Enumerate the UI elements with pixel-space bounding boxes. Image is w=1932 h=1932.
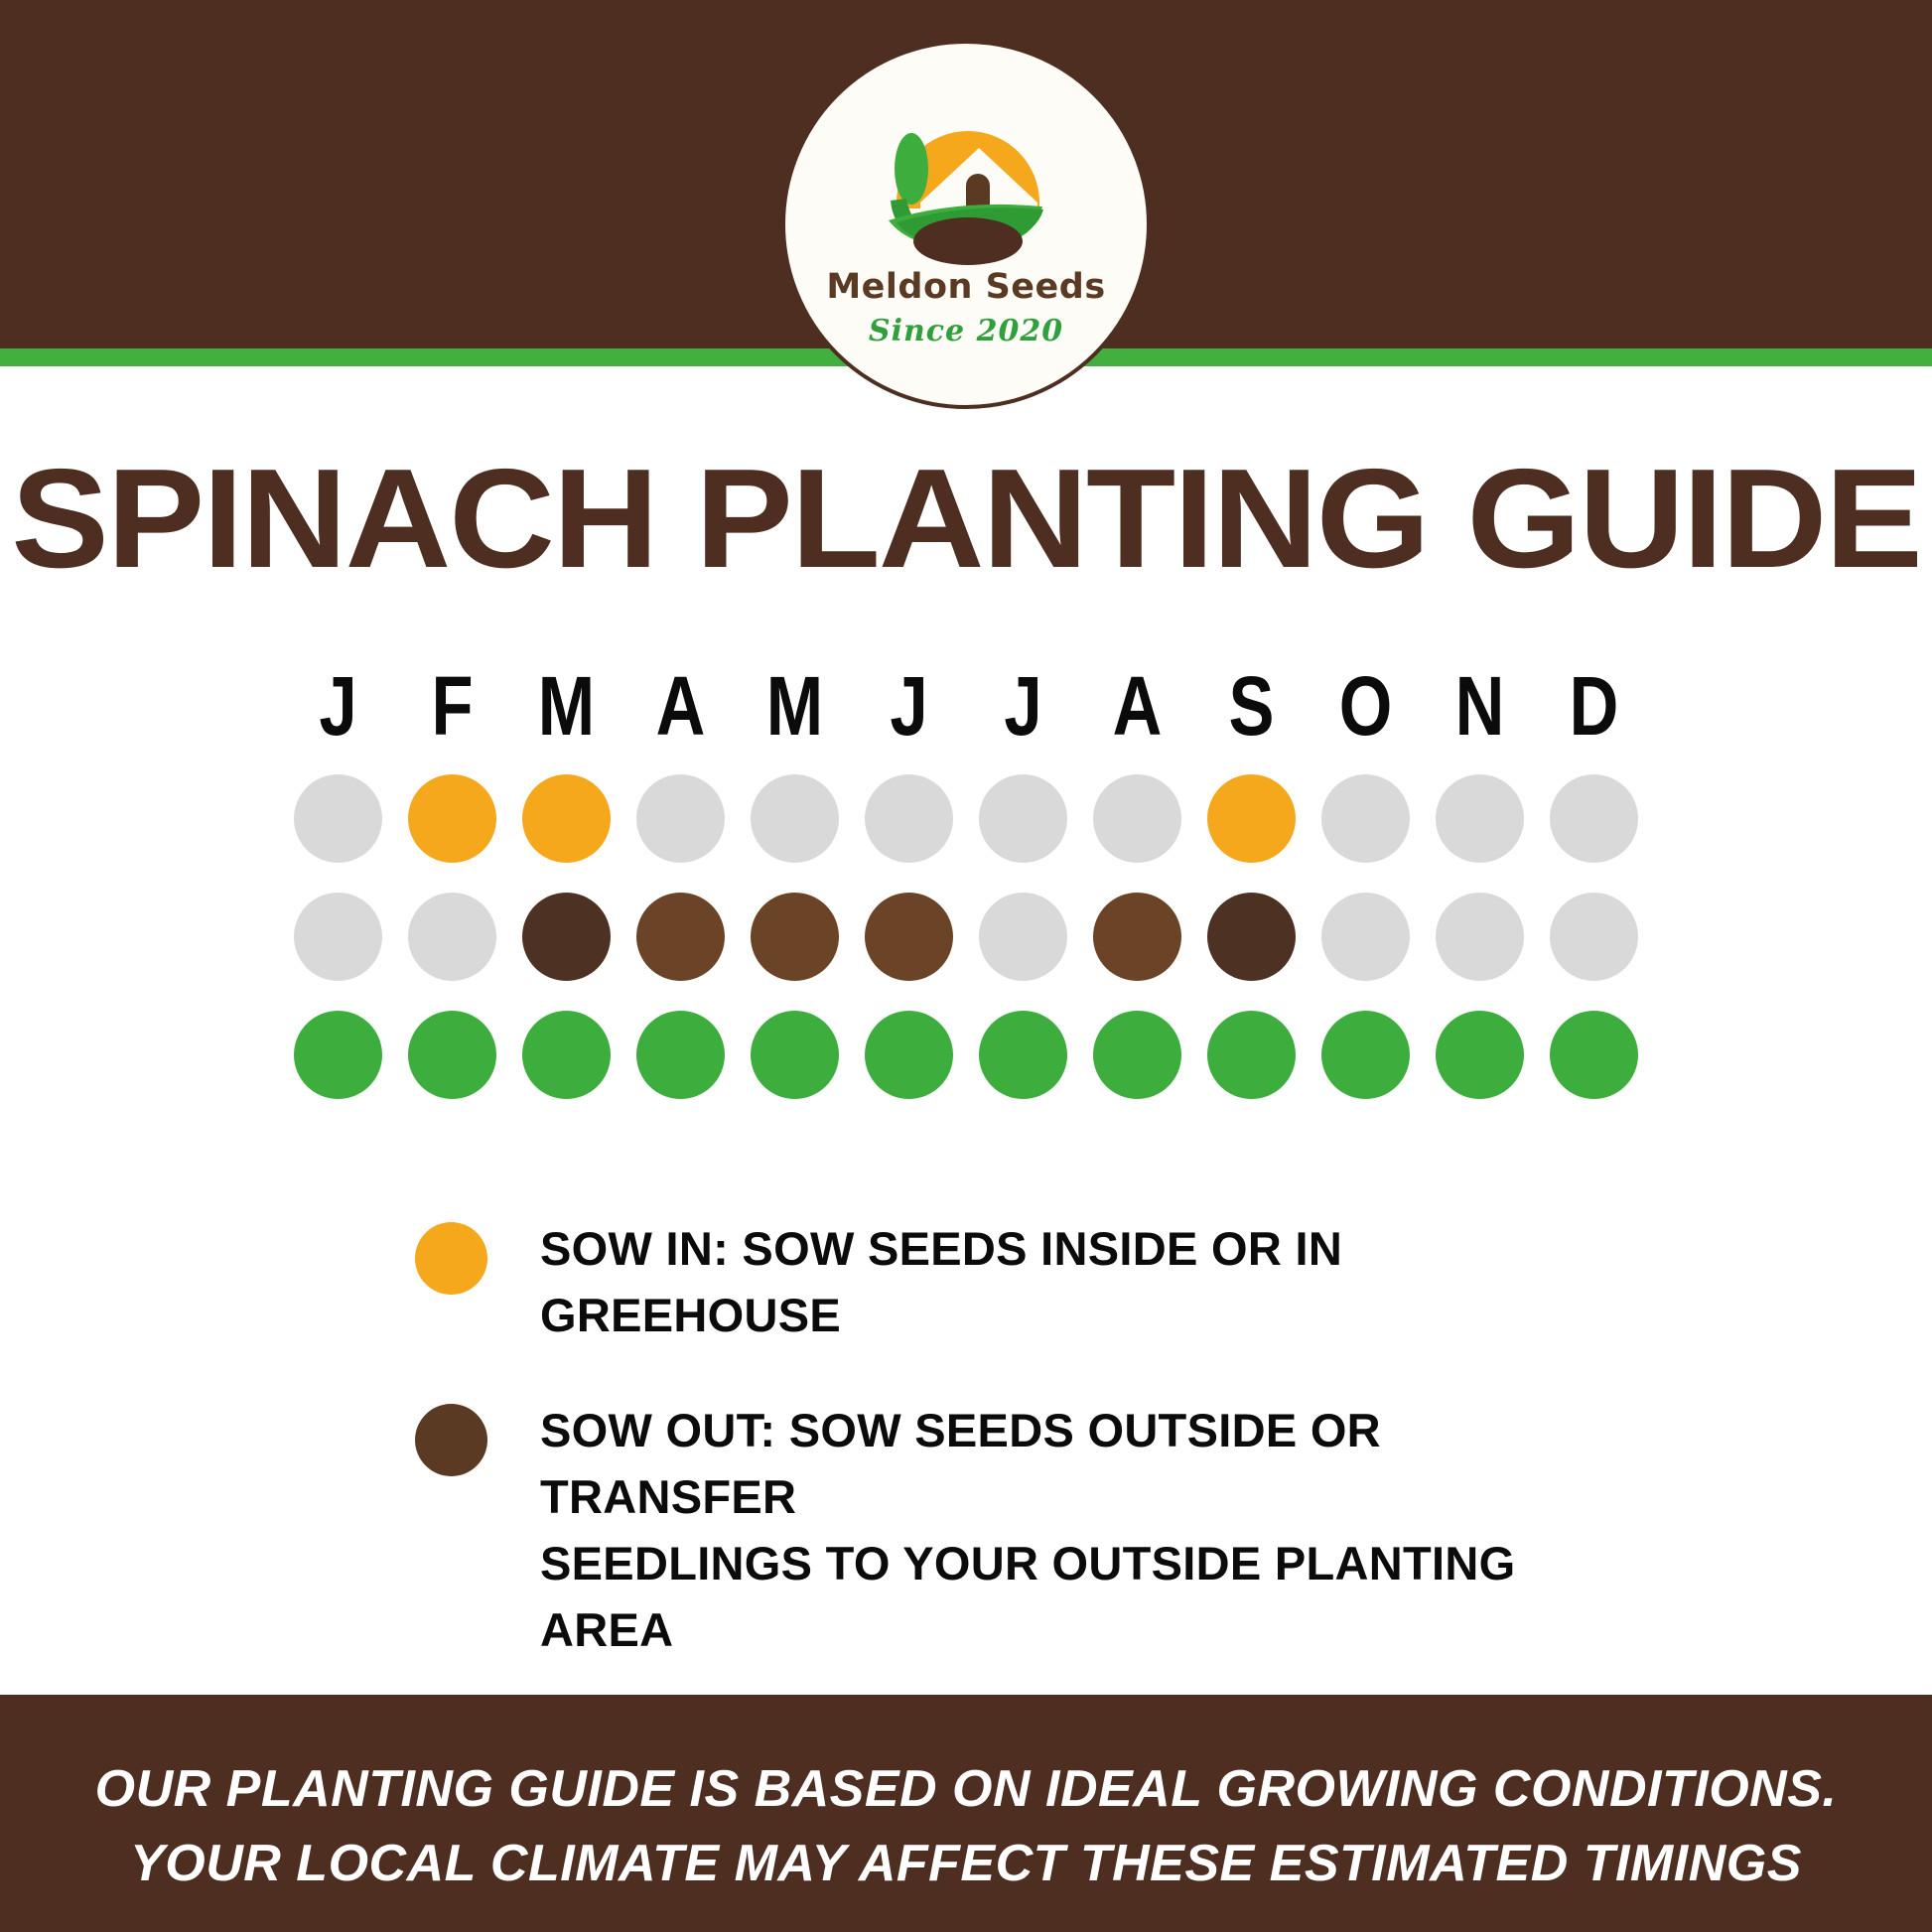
sow-in-cell: [281, 774, 395, 863]
sow-out-cell: [395, 893, 509, 981]
month-label: J: [862, 664, 955, 748]
sow-out-cell: [1194, 893, 1309, 981]
harvest-cell: [1423, 1011, 1537, 1099]
harvest-cell: [852, 1011, 966, 1099]
harvest-dot-s-8: [1207, 1011, 1296, 1099]
farmhouse-sun-field-icon: [867, 91, 1065, 265]
harvest-dot-o-9: [1321, 1011, 1410, 1099]
sow-out-cell: [1537, 893, 1651, 981]
harvest-dot-j-5: [865, 1011, 953, 1099]
month-label: M: [748, 664, 841, 748]
sow-out-dot-j-6: [979, 893, 1067, 981]
harvest-cell: [509, 1011, 623, 1099]
harvest-cell: [395, 1011, 509, 1099]
harvest-row: [281, 1011, 1651, 1099]
page-title: SPINACH PLANTING GUIDE: [0, 449, 1932, 590]
legend-dot-sow-out: [415, 1404, 487, 1476]
legend-label-line: SOW OUT: SOW SEEDS OUTSIDE OR TRANSFER: [540, 1398, 1606, 1530]
sow-out-cell: [738, 893, 852, 981]
harvest-cell: [623, 1011, 738, 1099]
sow-in-cell: [395, 774, 509, 863]
sow-in-dot-s-8: [1207, 774, 1296, 863]
legend-dot-sow-in: [415, 1222, 487, 1295]
footer-disclaimer: OUR PLANTING GUIDE IS BASED ON IDEAL GRO…: [0, 1752, 1932, 1902]
harvest-dot-a-7: [1093, 1011, 1181, 1099]
planting-calendar-grid: JFMAMJJASOND: [281, 667, 1651, 1099]
brand-logo-badge: Meldon Seeds Since 2020: [781, 40, 1151, 409]
month-label: O: [1318, 664, 1412, 748]
month-label: J: [291, 664, 384, 748]
harvest-dot-f-1: [408, 1011, 496, 1099]
sow-out-dot-m-2: [522, 893, 611, 981]
harvest-dot-m-2: [522, 1011, 611, 1099]
legend-item-sow-in: SOW IN: SOW SEEDS INSIDE OR IN GREEHOUSE: [415, 1216, 1606, 1348]
sow-in-cell: [1194, 774, 1309, 863]
harvest-dot-n-10: [1436, 1011, 1524, 1099]
month-label: A: [1090, 664, 1183, 748]
sow-out-row: [281, 893, 1651, 981]
sow-in-cell: [1423, 774, 1537, 863]
sow-in-cell: [852, 774, 966, 863]
sow-out-cell: [281, 893, 395, 981]
harvest-cell: [1080, 1011, 1194, 1099]
sow-out-dot-j-0: [294, 893, 382, 981]
sow-in-row: [281, 774, 1651, 863]
footer-line: OUR PLANTING GUIDE IS BASED ON IDEAL GRO…: [0, 1752, 1932, 1827]
sow-out-dot-j-5: [865, 893, 953, 981]
sow-in-cell: [966, 774, 1080, 863]
month-label: A: [633, 664, 727, 748]
month-label: M: [519, 664, 613, 748]
footer-line: YOUR LOCAL CLIMATE MAY AFFECT THESE ESTI…: [0, 1827, 1932, 1901]
month-label: F: [405, 664, 498, 748]
harvest-cell: [281, 1011, 395, 1099]
sow-in-dot-n-10: [1436, 774, 1524, 863]
sow-out-cell: [852, 893, 966, 981]
sow-out-dot-n-10: [1436, 893, 1524, 981]
sow-in-dot-j-0: [294, 774, 382, 863]
sow-in-cell: [1537, 774, 1651, 863]
sow-in-dot-m-4: [751, 774, 839, 863]
footer-band: OUR PLANTING GUIDE IS BASED ON IDEAL GRO…: [0, 1695, 1932, 1932]
harvest-dot-j-6: [979, 1011, 1067, 1099]
sow-out-dot-m-4: [751, 893, 839, 981]
planting-guide-poster: Meldon Seeds Since 2020 SPINACH PLANTING…: [0, 0, 1932, 1932]
legend-item-sow-out: SOW OUT: SOW SEEDS OUTSIDE OR TRANSFERSE…: [415, 1398, 1606, 1663]
sow-in-dot-d-11: [1550, 774, 1638, 863]
harvest-dot-a-3: [636, 1011, 725, 1099]
sow-out-cell: [623, 893, 738, 981]
harvest-cell: [1194, 1011, 1309, 1099]
harvest-cell: [1537, 1011, 1651, 1099]
sow-in-dot-a-3: [636, 774, 725, 863]
sow-in-cell: [1309, 774, 1423, 863]
legend-label-line: SEEDLINGS TO YOUR OUTSIDE PLANTING AREA: [540, 1531, 1606, 1663]
sow-in-dot-a-7: [1093, 774, 1181, 863]
harvest-cell: [738, 1011, 852, 1099]
month-label: J: [976, 664, 1069, 748]
sow-in-cell: [623, 774, 738, 863]
sow-out-dot-a-7: [1093, 893, 1181, 981]
harvest-dot-m-4: [751, 1011, 839, 1099]
sow-in-dot-o-9: [1321, 774, 1410, 863]
sow-in-dot-j-5: [865, 774, 953, 863]
legend-label-line: SOW IN: SOW SEEDS INSIDE OR IN GREEHOUSE: [540, 1216, 1606, 1348]
sow-out-dot-a-3: [636, 893, 725, 981]
legend-label-sow-out: SOW OUT: SOW SEEDS OUTSIDE OR TRANSFERSE…: [540, 1398, 1606, 1663]
sow-out-dot-d-11: [1550, 893, 1638, 981]
sow-out-cell: [509, 893, 623, 981]
month-label: D: [1547, 664, 1640, 748]
sow-in-dot-m-2: [522, 774, 611, 863]
month-label: S: [1204, 664, 1298, 748]
sow-in-cell: [509, 774, 623, 863]
sow-in-dot-f-1: [408, 774, 496, 863]
harvest-dot-j-0: [294, 1011, 382, 1099]
sow-in-cell: [1080, 774, 1194, 863]
sow-out-dot-f-1: [408, 893, 496, 981]
sow-out-dot-s-8: [1207, 893, 1296, 981]
month-header-row: JFMAMJJASOND: [281, 667, 1651, 745]
sow-out-cell: [1080, 893, 1194, 981]
sow-out-dot-o-9: [1321, 893, 1410, 981]
month-label: N: [1433, 664, 1526, 748]
sow-out-cell: [1423, 893, 1537, 981]
harvest-cell: [966, 1011, 1080, 1099]
harvest-dot-d-11: [1550, 1011, 1638, 1099]
harvest-cell: [1309, 1011, 1423, 1099]
sow-in-dot-j-6: [979, 774, 1067, 863]
sow-out-cell: [1309, 893, 1423, 981]
sow-out-cell: [966, 893, 1080, 981]
brand-name: Meldon Seeds: [785, 267, 1147, 307]
legend-label-sow-in: SOW IN: SOW SEEDS INSIDE OR IN GREEHOUSE: [540, 1216, 1606, 1348]
sow-in-cell: [738, 774, 852, 863]
brand-tagline: Since 2020: [785, 314, 1147, 348]
